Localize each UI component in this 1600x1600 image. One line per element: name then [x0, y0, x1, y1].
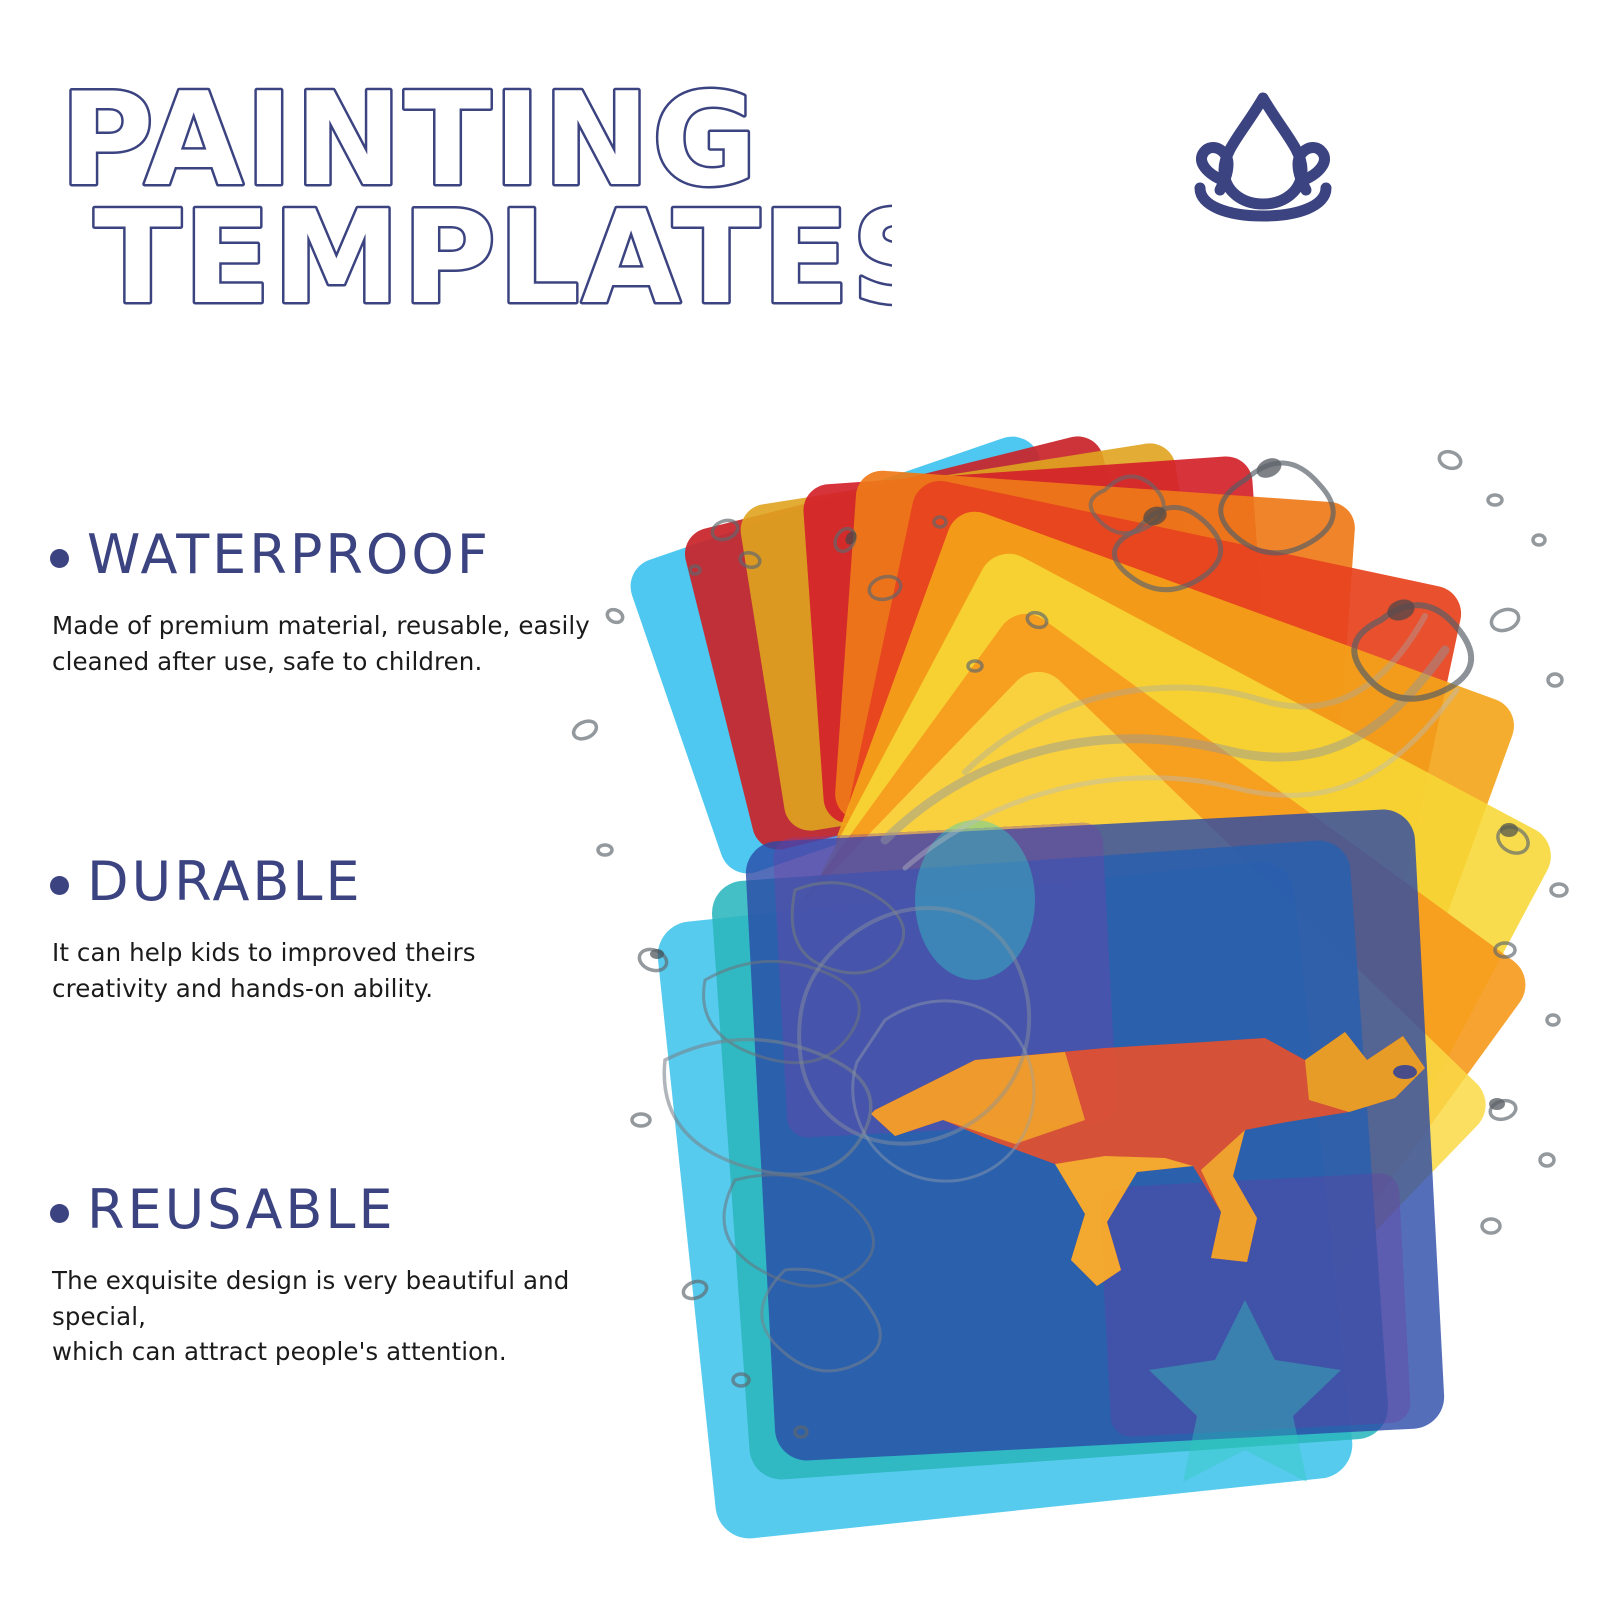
feature-item-waterproof: WATERPROOF Made of premium material, reu… — [50, 528, 610, 679]
bullet-icon — [50, 876, 69, 895]
page-title: PAINTING TEMPLATES — [52, 62, 892, 312]
feature-item-reusable: REUSABLE The exquisite design is very be… — [50, 1183, 610, 1370]
feature-heading-row: DURABLE — [50, 855, 610, 909]
feature-description: Made of premium material, reusable, easi… — [52, 608, 610, 679]
feature-title: WATERPROOF — [87, 528, 491, 582]
feature-heading-row: REUSABLE — [50, 1183, 610, 1237]
droplet-shape — [1224, 98, 1302, 204]
bullet-icon — [50, 1204, 69, 1223]
product-artwork — [545, 420, 1600, 1600]
title-line-2: TEMPLATES — [94, 184, 892, 312]
splash-right — [1298, 148, 1325, 190]
feature-item-durable: DURABLE It can help kids to improved the… — [50, 855, 610, 1006]
stencil-card-fan — [623, 429, 1561, 1542]
waterproof-droplet-icon — [1178, 82, 1348, 222]
feature-title: DURABLE — [87, 855, 363, 909]
bullet-icon — [50, 549, 69, 568]
feature-title: REUSABLE — [87, 1183, 396, 1237]
promo-page: PAINTING TEMPLATES WATERPROOF Made of pr… — [0, 0, 1600, 1600]
stencil-card-blue-main — [744, 808, 1446, 1482]
product-image — [545, 420, 1600, 1600]
feature-heading-row: WATERPROOF — [50, 528, 610, 582]
droplet-icon-art — [1178, 82, 1348, 222]
feature-description: It can help kids to improved theirs crea… — [52, 935, 610, 1006]
title-artwork: PAINTING TEMPLATES — [52, 62, 892, 312]
feature-description: The exquisite design is very beautiful a… — [52, 1263, 610, 1370]
splash-left — [1201, 148, 1228, 190]
